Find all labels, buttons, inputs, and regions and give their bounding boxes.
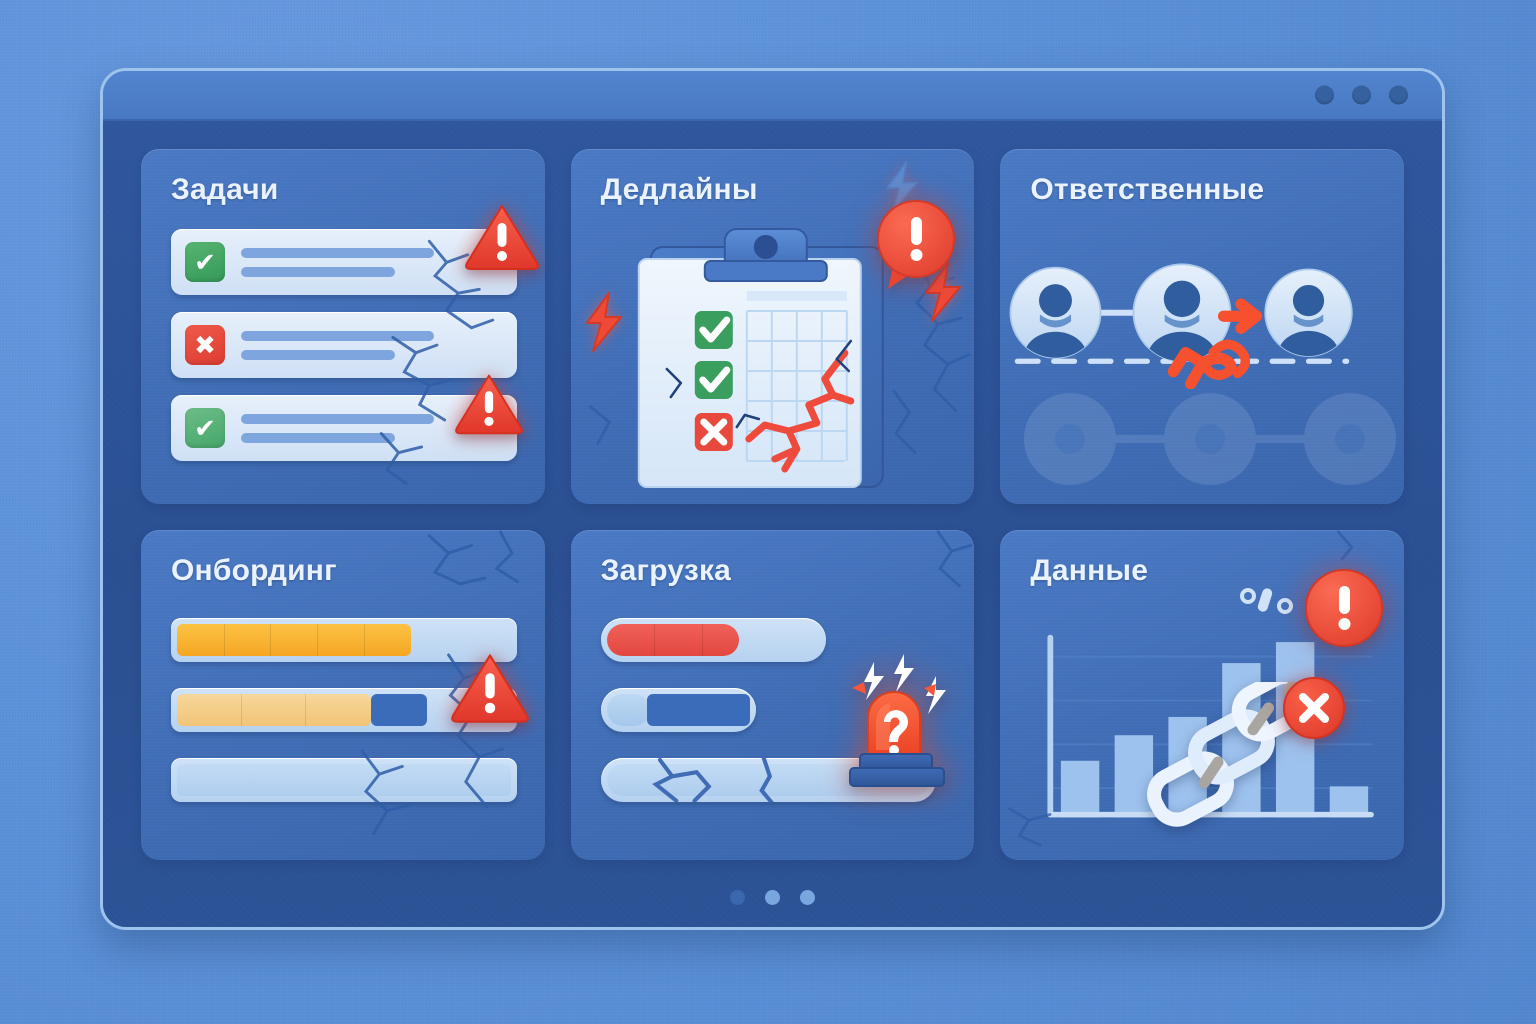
warning-triangle-icon (463, 201, 541, 273)
alert-bubble-icon (870, 197, 962, 301)
cross-circle-icon (1281, 675, 1347, 741)
bolt-icon (581, 291, 627, 353)
table-row[interactable]: ✖ (171, 312, 517, 378)
panel-onboarding[interactable]: Онбординг (141, 530, 545, 860)
chart-bar (1061, 761, 1099, 818)
page-dot-3[interactable] (800, 890, 815, 905)
alert-circle-icon (1302, 566, 1386, 650)
pagination-dots[interactable] (103, 890, 1442, 905)
dashboard-grid: Задачи ✔ ✖ (141, 149, 1404, 860)
ghost-nodes (1000, 379, 1404, 499)
window-dot-3[interactable] (1389, 86, 1408, 105)
clipboard-illustration (637, 219, 897, 502)
panel-data[interactable]: Данные (1000, 530, 1404, 860)
warning-triangle-icon (449, 650, 531, 726)
progress-fill (607, 694, 650, 726)
text-line (241, 350, 395, 360)
progress-bar[interactable] (601, 618, 827, 662)
text-line (241, 248, 434, 258)
panel-tasks[interactable]: Задачи ✔ ✖ (141, 149, 545, 504)
progress-bar[interactable] (171, 758, 517, 802)
progress-fill (177, 694, 371, 726)
app-window: Задачи ✔ ✖ (100, 68, 1445, 930)
warning-triangle-icon (453, 371, 525, 437)
progress-fill (607, 624, 739, 656)
task-text-lines (241, 331, 517, 360)
check-icon: ✔ (185, 242, 225, 282)
cross-icon: ✖ (185, 325, 225, 365)
panel-title-data: Данные (1030, 554, 1148, 588)
panel-loading[interactable]: Загрузка (571, 530, 975, 860)
progress-remaining (647, 694, 750, 726)
progress-fill (177, 764, 511, 796)
progress-bar[interactable] (601, 688, 757, 732)
panel-assignees[interactable]: Ответственные (1000, 149, 1404, 504)
panel-title-assignees: Ответственные (1030, 173, 1264, 207)
panel-title-tasks: Задачи (171, 173, 279, 207)
avatar-row (1000, 259, 1364, 389)
window-controls[interactable] (1315, 86, 1408, 105)
page-dot-1[interactable] (730, 890, 745, 905)
window-content: Задачи ✔ ✖ (103, 121, 1442, 927)
check-icon: ✔ (185, 408, 225, 448)
text-line (241, 267, 395, 277)
page-dot-2[interactable] (765, 890, 780, 905)
panel-title-deadlines: Дедлайны (601, 173, 758, 207)
decorative-dots (1240, 584, 1294, 623)
panel-title-onboarding: Онбординг (171, 554, 337, 588)
text-line (241, 331, 434, 341)
panel-title-loading: Загрузка (601, 554, 731, 588)
progress-blocked-segment (371, 694, 426, 726)
window-dot-1[interactable] (1315, 86, 1334, 105)
window-dot-2[interactable] (1352, 86, 1371, 105)
panel-deadlines[interactable]: Дедлайны (571, 149, 975, 504)
window-titlebar (103, 71, 1442, 121)
progress-fill (177, 624, 411, 656)
text-line (241, 414, 434, 424)
text-line (241, 433, 395, 443)
siren-question-icon (838, 648, 956, 792)
